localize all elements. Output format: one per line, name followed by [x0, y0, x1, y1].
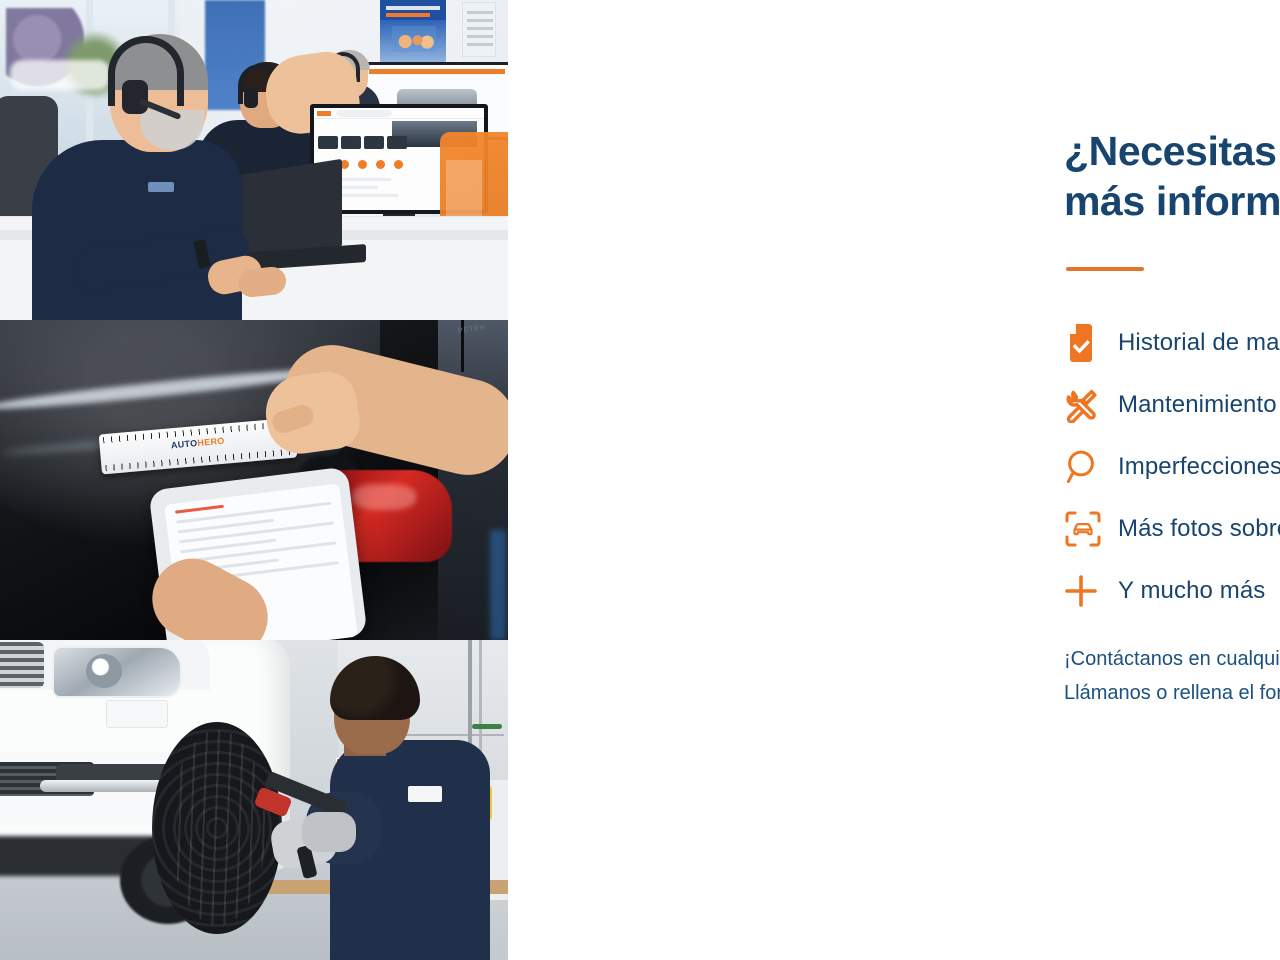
mechanic-wheel-photo: [0, 640, 508, 960]
content-panel: ¿Necesitas más información? Estamos enca…: [508, 0, 1280, 960]
page-title-line-one: ¿Necesitas: [1064, 126, 1280, 176]
contact-paragraph-line-two: Llámanos o rellena el formulario de cont…: [1064, 676, 1280, 710]
car-outside: [10, 60, 110, 90]
page-title-line-two: más información?: [1064, 176, 1280, 226]
feature-item-more-photos: Más fotos sobre el coche: [1064, 498, 1280, 560]
feature-item-maintenance-done: Mantenimiento realizado: [1064, 374, 1280, 436]
promo-page: AUTOHERO PETER: [0, 0, 1280, 960]
magnifier-icon: [1064, 449, 1118, 485]
licence-plate-area: [106, 700, 168, 728]
feature-label: Y mucho más: [1118, 577, 1265, 605]
poster-people: [392, 26, 436, 52]
tyre-tread: [170, 730, 266, 926]
feature-label: Más fotos sobre el coche: [1118, 515, 1280, 543]
green-hose: [472, 724, 502, 729]
feature-label: Imperfecciones: [1118, 453, 1280, 481]
headlight-projector: [86, 654, 122, 688]
contact-paragraph: ¡Contáctanos en cualquier momento para m…: [1064, 642, 1280, 711]
document-check-icon: [1064, 324, 1118, 362]
agent-two-earcup: [244, 88, 258, 108]
background-blue-glow: [490, 530, 506, 640]
mechanic-glove-two: [302, 812, 356, 852]
wall-notice: [462, 2, 496, 57]
feature-label: Historial de mantenimientos: [1118, 329, 1280, 357]
agent-one-earcup: [122, 80, 148, 114]
agent-one-polo-logo: [148, 182, 174, 192]
feature-list: Historial de mantenimientos Mantenimient…: [1064, 312, 1280, 622]
feature-item-much-more: Y mucho más: [1064, 560, 1280, 622]
contact-paragraph-line-one: ¡Contáctanos en cualquier momento para m…: [1064, 642, 1280, 676]
feature-label: Mantenimiento realizado: [1118, 391, 1280, 419]
plus-icon: [1064, 574, 1118, 608]
page-title: ¿Necesitas más información?: [1064, 126, 1280, 226]
car-inspection-ruler-photo: AUTOHERO PETER: [0, 320, 508, 640]
tools-wrench-screwdriver-icon: [1064, 387, 1118, 423]
feature-item-service-history: Historial de mantenimientos: [1064, 312, 1280, 374]
mechanic-polo-logo: [408, 786, 442, 802]
car-grille: [0, 642, 44, 688]
poster-headline-bar: [386, 6, 440, 10]
photo-column: AUTOHERO PETER: [0, 0, 508, 960]
call-center-agents-photo: [0, 0, 508, 320]
taillight-highlight: [352, 484, 416, 510]
car-photo-frame-icon: [1064, 510, 1118, 548]
title-underline-rule: [1066, 267, 1144, 271]
feature-item-imperfections: Imperfecciones: [1064, 436, 1280, 498]
poster-accent-bar: [386, 13, 430, 17]
